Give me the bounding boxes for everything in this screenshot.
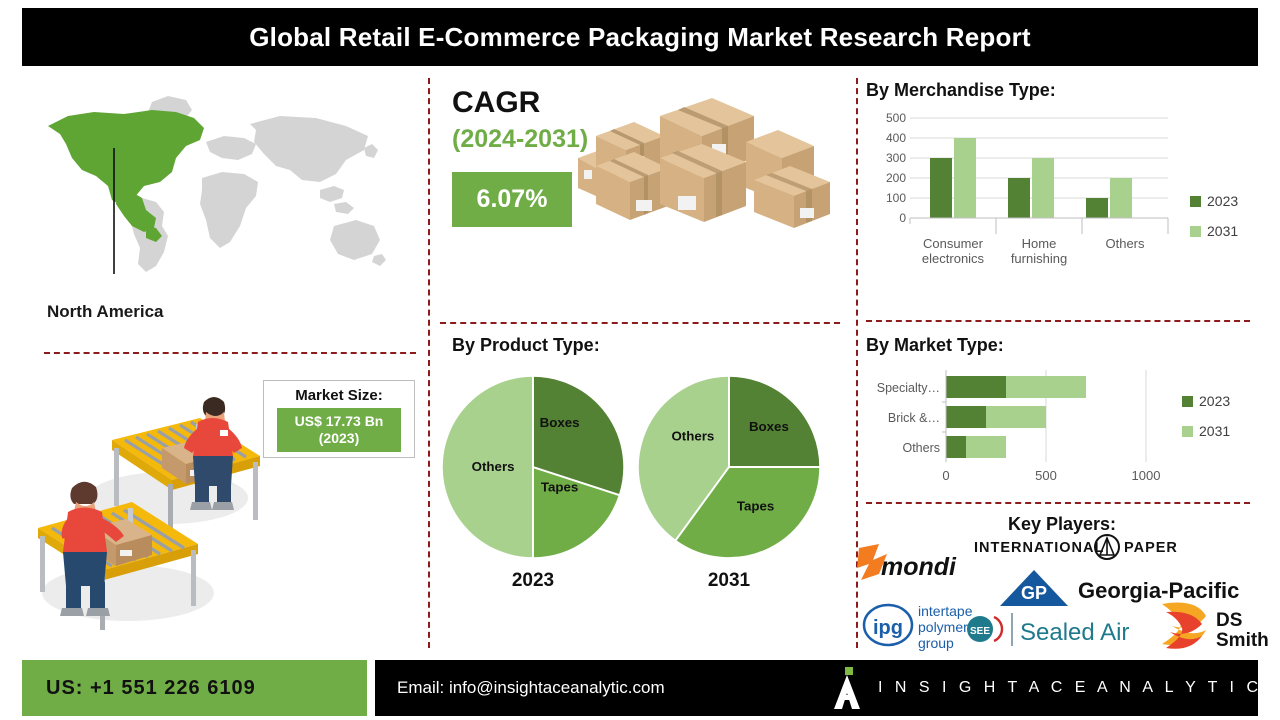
bar-others-2023 [1086,198,1108,218]
ytick-100: 100 [886,191,906,205]
international-paper-logo: INTERNATIONAL PAPER [974,534,1184,565]
conveyor-illustration [28,378,278,640]
market-type-title: By Market Type: [866,335,1004,356]
legend-label-market-2031: 2031 [1199,423,1230,439]
international-paper-word2: PAPER [1124,540,1178,556]
legend-swatch-market-2031 [1182,426,1193,437]
region-label: North America [47,302,164,322]
footer-phone-banner: US: +1 551 226 6109 [22,660,367,716]
market-size-card: Market Size: US$ 17.73 Bn (2023) [263,380,415,458]
ytick-500: 500 [886,111,906,125]
product-type-title: By Product Type: [452,335,600,356]
merchandise-type-title: By Merchandise Type: [866,80,1056,101]
legend-swatch-2031 [1190,226,1201,237]
divider-horizontal-right-bottom [866,502,1250,504]
bar-home-furnishing-2031 [1032,158,1054,218]
pie-chart-2023: Boxes Tapes Others 2023 [438,372,628,592]
bar-specialty-2023 [946,376,1006,398]
pie-2023-year: 2023 [438,570,628,592]
bar-market-others-2023 [946,436,966,458]
infographic-page: Global Retail E-Commerce Packaging Marke… [0,0,1280,720]
legend-swatch-market-2023 [1182,396,1193,407]
pie-2031-label-tapes: Tapes [737,499,774,514]
bar-specialty-2031 [1006,376,1086,398]
world-map [34,86,414,296]
sealed-air-wordmark: Sealed Air [1020,619,1129,646]
georgia-pacific-mark: GP [1021,583,1047,603]
market-size-amount: US$ 17.73 Bn [287,413,391,430]
legend-label-2031: 2031 [1207,223,1238,239]
ytick-200: 200 [886,171,906,185]
xtick-500: 500 [1035,468,1057,483]
xtick-consumer-electronics-1: Consumer [923,236,984,251]
legend-swatch-2023 [1190,196,1201,207]
xtick-others: Others [1105,236,1145,251]
divider-horizontal-left [44,352,416,354]
bar-consumer-electronics-2023 [930,158,952,218]
xtick-home-furnishing-1: Home [1022,236,1057,251]
market-size-title: Market Size: [295,387,383,404]
ds-smith-logo: DS Smith [1158,598,1268,659]
market-size-year: (2023) [287,430,391,447]
xtick-home-furnishing-2: furnishing [1011,251,1067,266]
pie-2023-label-tapes: Tapes [541,480,578,495]
pie-2023-label-others: Others [472,459,515,474]
cagr-title: CAGR [452,86,540,120]
ytick-market-others: Others [902,441,940,455]
sealed-air-mark: SEE [970,626,990,637]
sealed-air-logo: SEE Sealed Air [960,608,1160,655]
ytick-brick: Brick &… [888,411,940,425]
footer-email: Email: info@insightaceanalytic.com [375,678,665,698]
cardboard-boxes-illustration [578,96,838,241]
pie-2031-label-boxes: Boxes [749,419,789,434]
pie-2031-label-others: Others [671,428,714,443]
footer-phone: US: +1 551 226 6109 [22,677,256,700]
ds-smith-word2: Smith [1216,630,1268,651]
divider-vertical-left [428,78,430,648]
bar-market-others-2031 [966,436,1006,458]
bar-consumer-electronics-2031 [954,138,976,218]
mondi-logo: mondi [857,544,987,591]
brand-lockup: I N S I G H T A C E A N A L Y T I C [830,660,1262,716]
divider-horizontal-center [440,322,840,324]
key-players-logos: mondi INTERNATIONAL PAPER GP Georgia-Pac… [862,532,1262,652]
xtick-0: 0 [942,468,949,483]
bar-brick-2031 [986,406,1046,428]
legend-label-market-2023: 2023 [1199,393,1230,409]
ytick-300: 300 [886,151,906,165]
divider-horizontal-right-top [866,320,1250,322]
product-type-charts: Boxes Tapes Others 2023 Boxes Tapes Othe… [438,372,848,627]
market-size-value: US$ 17.73 Bn (2023) [277,408,401,452]
ipg-line3: group [918,635,954,651]
page-title: Global Retail E-Commerce Packaging Marke… [249,22,1031,53]
ytick-0: 0 [899,211,906,225]
bar-brick-2023 [946,406,986,428]
merchandise-type-chart: 500 400 300 200 100 0 [868,108,1260,268]
pie-2031-year: 2031 [634,570,824,592]
international-paper-word1: INTERNATIONAL [974,540,1104,556]
cagr-value-badge: 6.07% [452,172,572,227]
xtick-consumer-electronics-2: electronics [922,251,985,266]
ytick-specialty: Specialty… [877,381,940,395]
pie-2023-label-boxes: Boxes [540,415,580,430]
legend-label-2023: 2023 [1207,193,1238,209]
ipg-mark: ipg [873,617,903,639]
market-type-chart: Specialty… Brick &… Others 0 500 1000 20… [868,366,1260,496]
insightace-a-icon [830,667,864,709]
bar-home-furnishing-2023 [1008,178,1030,218]
mondi-wordmark: mondi [881,553,957,581]
xtick-1000: 1000 [1132,468,1161,483]
bar-others-2031 [1110,178,1132,218]
brand-name: I N S I G H T A C E A N A L Y T I C [878,679,1262,697]
ds-smith-word1: DS [1216,610,1242,631]
pie-chart-2031: Boxes Tapes Others 2031 [634,372,824,592]
page-header: Global Retail E-Commerce Packaging Marke… [22,8,1258,66]
cagr-period: (2024-2031) [452,125,588,154]
ytick-400: 400 [886,131,906,145]
